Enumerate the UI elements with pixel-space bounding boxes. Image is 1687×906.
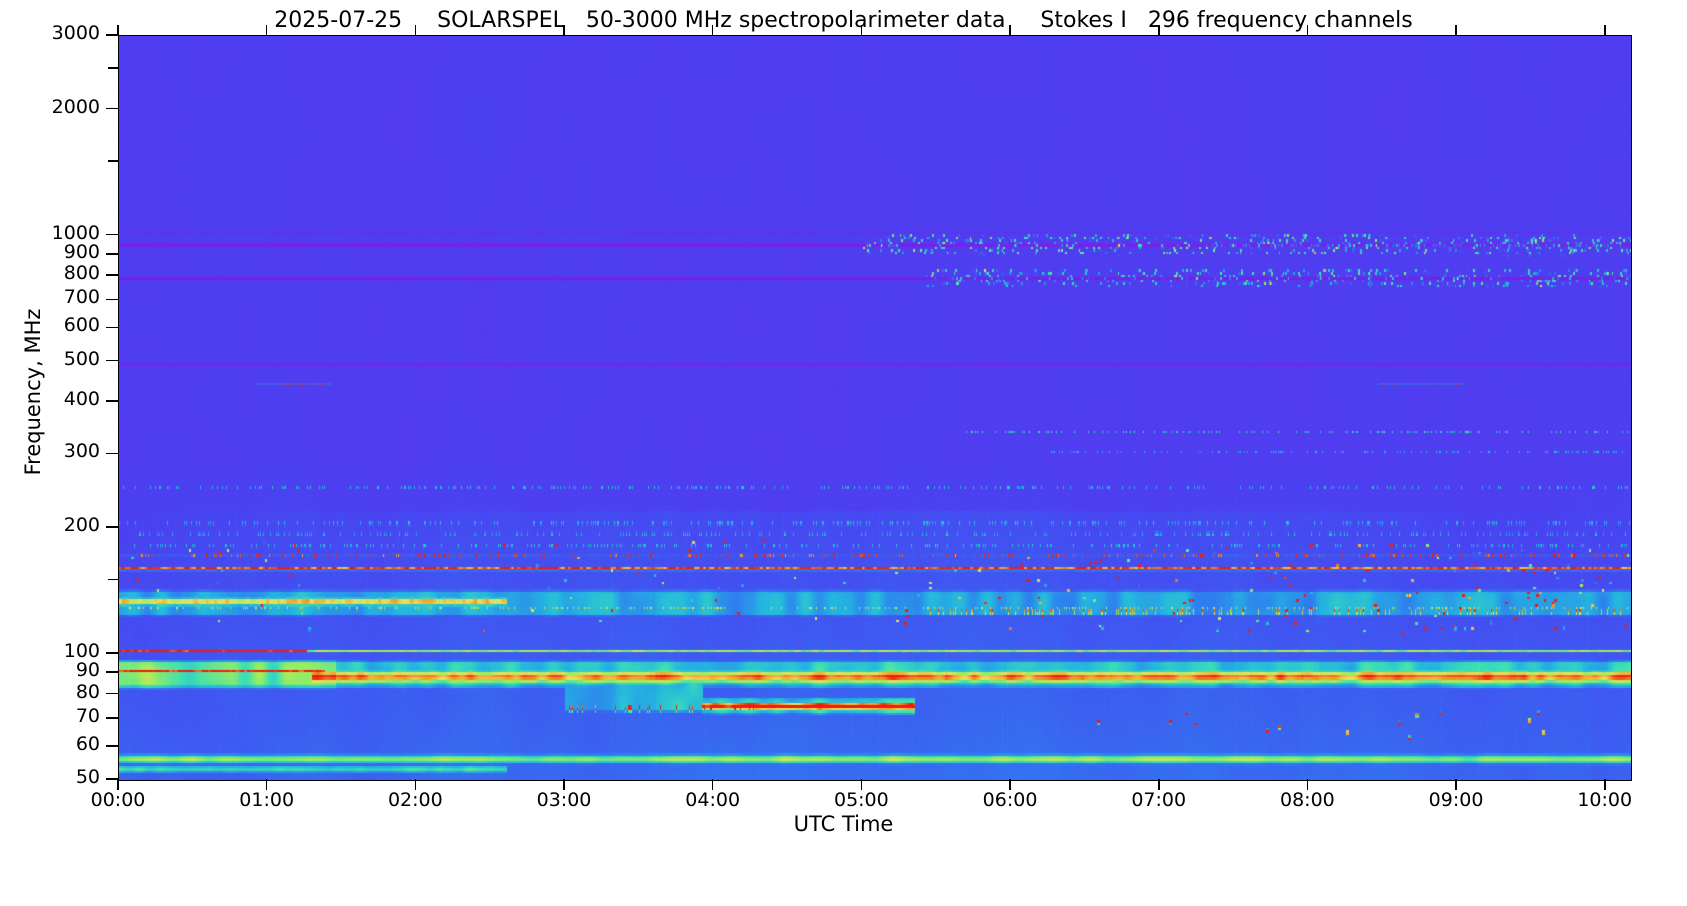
spectrogram-figure: 2025-07-25 SOLARSPEL 50-3000 MHz spectro… <box>0 0 1687 906</box>
y-tick-200 <box>106 526 118 528</box>
y-tick-label-800: 800 <box>0 262 100 284</box>
y-tick-label-70: 70 <box>0 705 100 727</box>
y-tick-label-3000: 3000 <box>0 22 100 44</box>
y-tick-1000 <box>106 234 118 236</box>
x-tick-label-06:00: 06:00 <box>983 789 1038 811</box>
x-tick-label-10:00: 10:00 <box>1577 789 1632 811</box>
x-tick-top-00:00 <box>117 25 119 35</box>
x-tick-top-02:00 <box>415 25 417 35</box>
x-tick-label-05:00: 05:00 <box>834 789 889 811</box>
y-tick-600 <box>106 327 118 329</box>
x-tick-label-00:00: 00:00 <box>91 789 146 811</box>
y-tick-900 <box>106 253 118 255</box>
y-tick-label-500: 500 <box>0 348 100 370</box>
x-tick-label-08:00: 08:00 <box>1280 789 1335 811</box>
y-tick-80 <box>106 693 118 695</box>
x-tick-top-09:00 <box>1455 25 1457 35</box>
y-tick-500 <box>106 360 118 362</box>
y-tick-minor-2500 <box>108 67 118 69</box>
y-tick-minor-1500 <box>108 160 118 162</box>
y-tick-label-600: 600 <box>0 314 100 336</box>
y-tick-label-90: 90 <box>0 659 100 681</box>
x-tick-top-08:00 <box>1307 25 1309 35</box>
x-tick-label-04:00: 04:00 <box>685 789 740 811</box>
x-tick-label-07:00: 07:00 <box>1131 789 1186 811</box>
y-tick-label-2000: 2000 <box>0 96 100 118</box>
y-tick-label-50: 50 <box>0 766 100 788</box>
y-tick-label-100: 100 <box>0 640 100 662</box>
y-tick-label-200: 200 <box>0 514 100 536</box>
spectrogram-image <box>119 36 1631 780</box>
y-tick-label-900: 900 <box>0 241 100 263</box>
y-tick-minor-150 <box>108 579 118 581</box>
x-tick-top-06:00 <box>1009 25 1011 35</box>
x-tick-top-03:00 <box>563 25 565 35</box>
x-axis-label: UTC Time <box>0 812 1687 836</box>
y-tick-90 <box>106 671 118 673</box>
x-tick-label-09:00: 09:00 <box>1429 789 1484 811</box>
y-tick-label-80: 80 <box>0 681 100 703</box>
y-tick-label-300: 300 <box>0 440 100 462</box>
y-tick-3000 <box>106 34 118 36</box>
y-tick-70 <box>106 717 118 719</box>
y-tick-100 <box>106 652 118 654</box>
x-tick-label-01:00: 01:00 <box>239 789 294 811</box>
y-tick-400 <box>106 400 118 402</box>
y-tick-label-1000: 1000 <box>0 222 100 244</box>
spectrogram-plot-area <box>118 35 1632 781</box>
y-tick-label-400: 400 <box>0 388 100 410</box>
y-tick-300 <box>106 453 118 455</box>
x-tick-top-05:00 <box>861 25 863 35</box>
x-tick-label-02:00: 02:00 <box>388 789 443 811</box>
x-tick-top-07:00 <box>1158 25 1160 35</box>
y-tick-800 <box>106 274 118 276</box>
y-tick-50 <box>106 778 118 780</box>
y-tick-2000 <box>106 108 118 110</box>
y-tick-60 <box>106 745 118 747</box>
figure-title: 2025-07-25 SOLARSPEL 50-3000 MHz spectro… <box>0 8 1687 33</box>
x-tick-label-03:00: 03:00 <box>537 789 592 811</box>
y-tick-700 <box>106 299 118 301</box>
x-tick-top-04:00 <box>712 25 714 35</box>
y-tick-label-700: 700 <box>0 286 100 308</box>
x-tick-top-01:00 <box>266 25 268 35</box>
y-tick-label-60: 60 <box>0 733 100 755</box>
x-tick-top-10:00 <box>1604 25 1606 35</box>
